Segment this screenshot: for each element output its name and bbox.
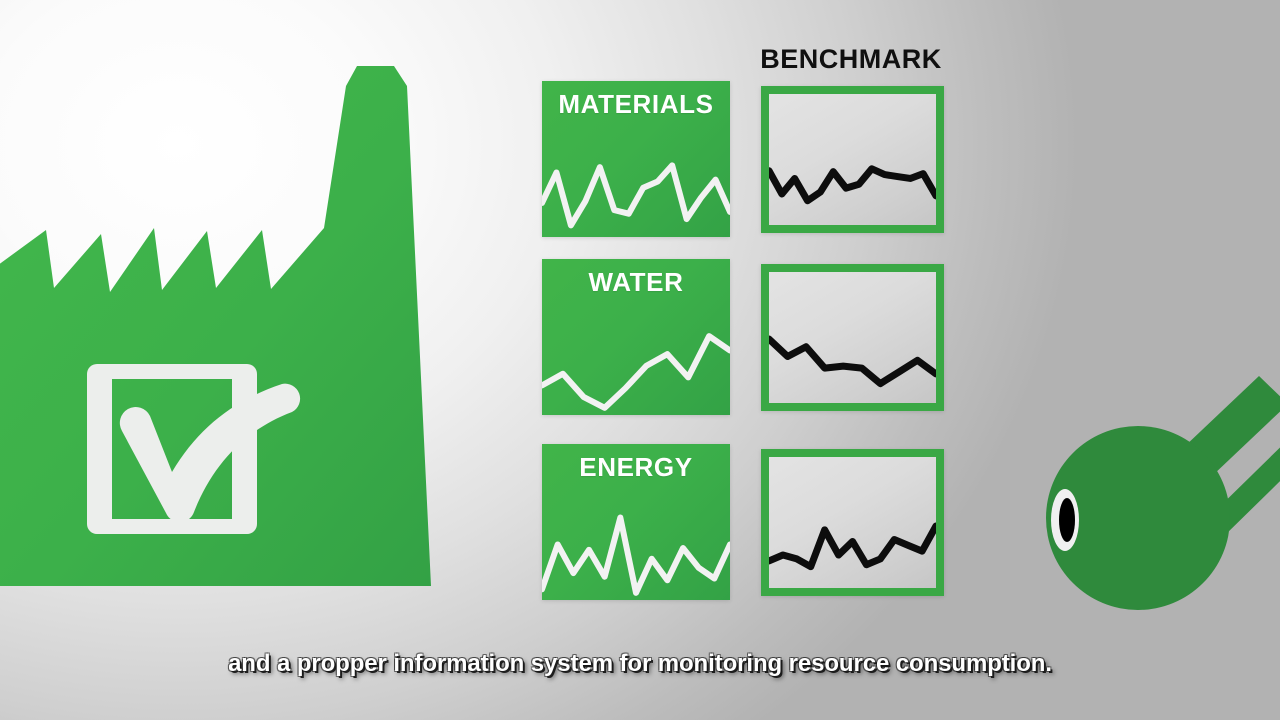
benchmark-box-water[interactable] <box>761 264 944 411</box>
benchmark-column-title: BENCHMARK <box>721 46 981 73</box>
metric-tile-energy[interactable]: ENERGY <box>542 444 730 600</box>
metric-label-energy: ENERGY <box>542 454 730 480</box>
subtitle-caption: and a propper information system for mon… <box>0 652 1280 676</box>
factory-icon <box>0 56 464 596</box>
metric-row-water: WATER <box>542 259 944 415</box>
factory-body-shape <box>0 66 431 586</box>
metric-label-materials: MATERIALS <box>542 91 730 117</box>
scene-canvas: BENCHMARK MATERIALS WATER ENERGY <box>0 0 1280 720</box>
metric-tile-materials[interactable]: MATERIALS <box>542 81 730 237</box>
sparkline-materials <box>542 125 730 237</box>
metric-tile-water[interactable]: WATER <box>542 259 730 415</box>
sparkline-water <box>542 303 730 415</box>
sparkline-benchmark-water <box>769 272 936 403</box>
sparkline-energy <box>542 488 730 600</box>
metric-row-energy: ENERGY <box>542 444 944 600</box>
character-eye-pupil <box>1059 498 1075 542</box>
benchmark-box-materials[interactable] <box>761 86 944 233</box>
character-head-icon <box>1020 370 1280 640</box>
metric-row-materials: MATERIALS <box>542 81 944 237</box>
metric-label-water: WATER <box>542 269 730 295</box>
benchmark-box-energy[interactable] <box>761 449 944 596</box>
sparkline-benchmark-materials <box>769 94 936 225</box>
sparkline-benchmark-energy <box>769 457 936 588</box>
